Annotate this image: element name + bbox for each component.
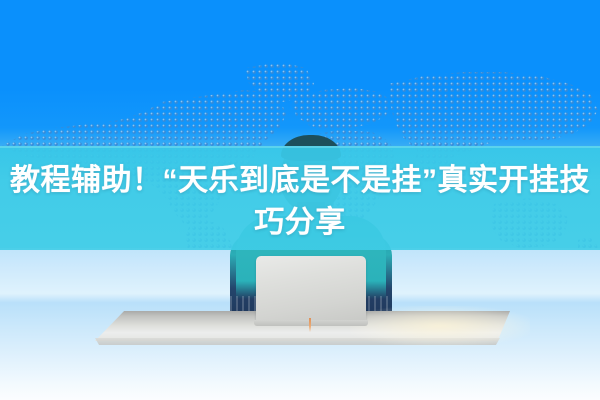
promo-banner: 教程辅助！“天乐到底是不是挂”真实开挂技巧分享 xyxy=(0,0,600,400)
laptop-base xyxy=(254,320,368,326)
apple-logo-icon xyxy=(304,286,318,302)
laptop-indicator-light xyxy=(309,318,311,332)
desk-edge xyxy=(95,338,500,345)
title-band-top-edge xyxy=(0,146,600,148)
laptop xyxy=(256,256,366,326)
banner-title: 教程辅助！“天乐到底是不是挂”真实开挂技巧分享 xyxy=(0,160,600,244)
